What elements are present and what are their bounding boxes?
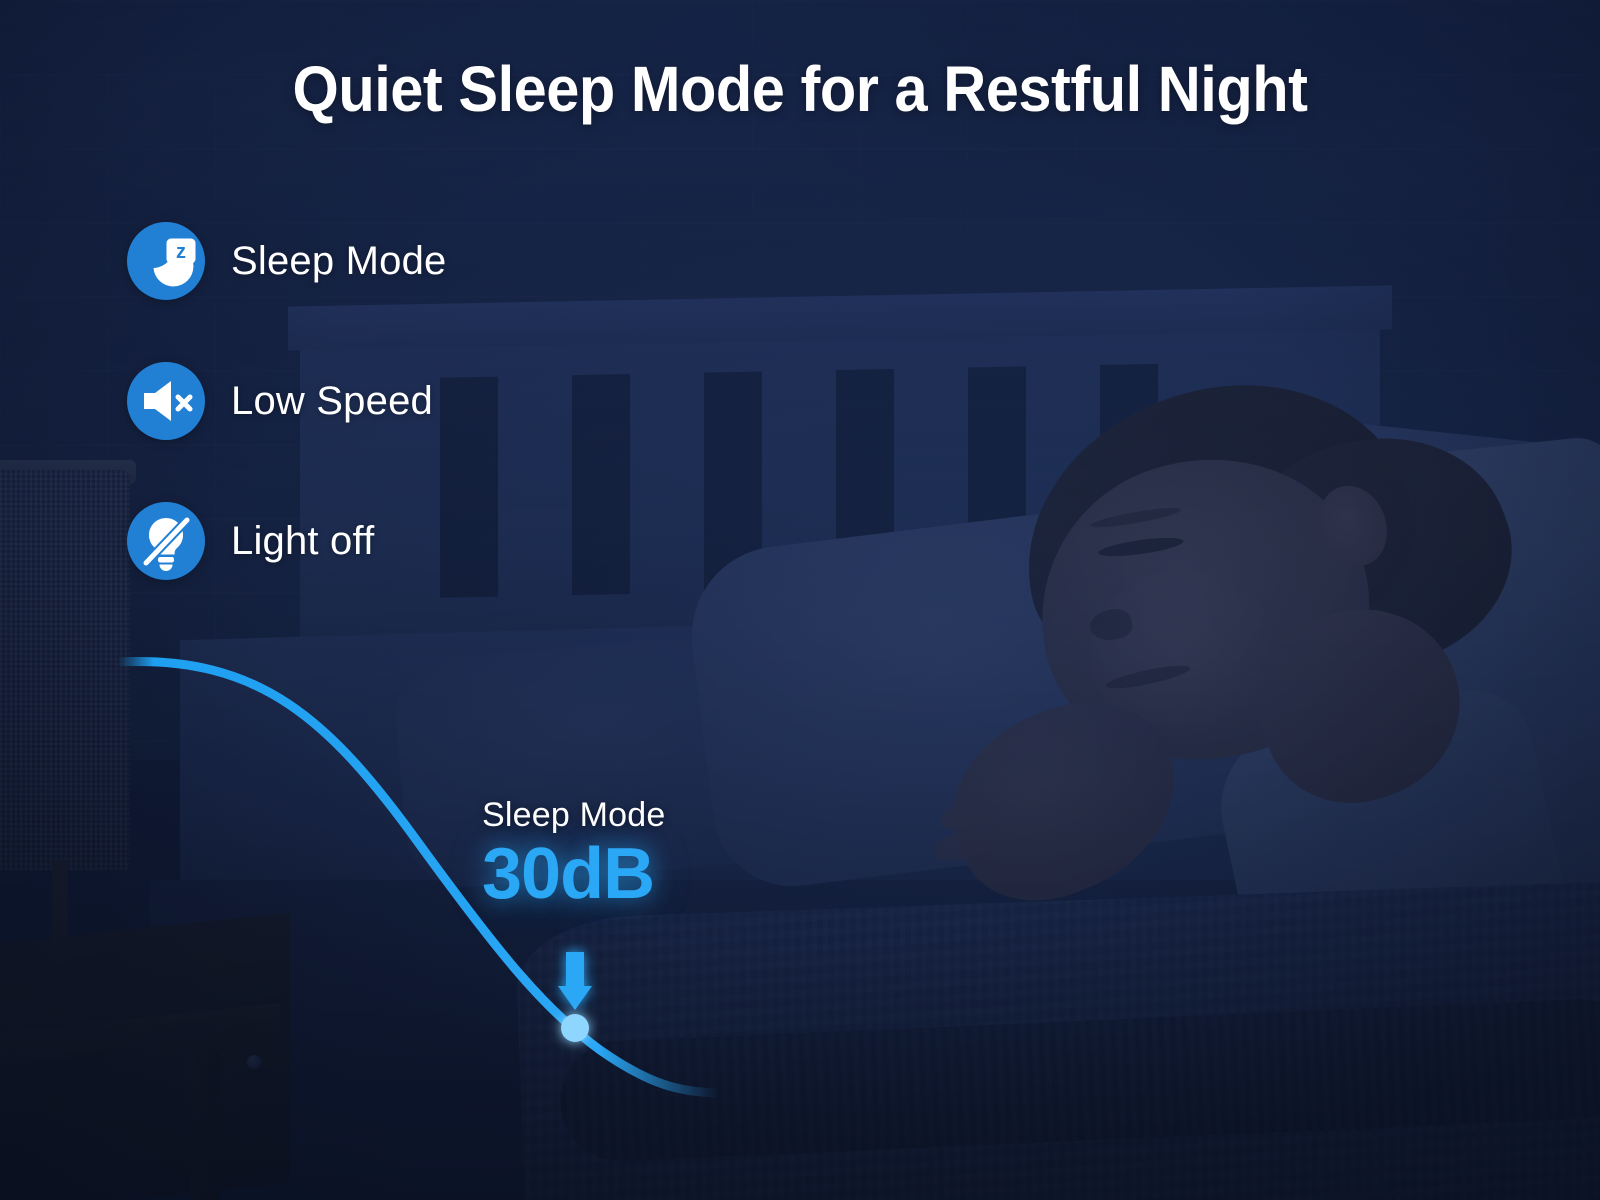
speaker-mute-icon: [127, 362, 205, 440]
noise-callout: Sleep Mode 30dB: [482, 796, 665, 910]
feature-label: Low Speed: [231, 379, 433, 424]
arrow-down-icon: [558, 952, 592, 1010]
feature-label: Light off: [231, 519, 374, 564]
callout-noise-value: 30dB: [482, 839, 665, 910]
callout-mode-label: Sleep Mode: [482, 796, 665, 835]
moon-z-icon: z: [127, 222, 205, 300]
marketing-banner: Quiet Sleep Mode for a Restful Night z S…: [0, 0, 1600, 1200]
content-overlay: Quiet Sleep Mode for a Restful Night z S…: [0, 0, 1600, 1200]
svg-text:z: z: [176, 241, 186, 263]
curve-endpoint-dot: [561, 1014, 589, 1042]
feature-item-sleep-mode[interactable]: z Sleep Mode: [127, 222, 446, 300]
feature-list: z Sleep Mode Low Spe: [127, 222, 446, 642]
feature-label: Sleep Mode: [231, 239, 446, 284]
feature-item-low-speed[interactable]: Low Speed: [127, 362, 446, 440]
bulb-off-icon: [127, 502, 205, 580]
page-title: Quiet Sleep Mode for a Restful Night: [56, 52, 1544, 126]
feature-item-light-off[interactable]: Light off: [127, 502, 446, 580]
